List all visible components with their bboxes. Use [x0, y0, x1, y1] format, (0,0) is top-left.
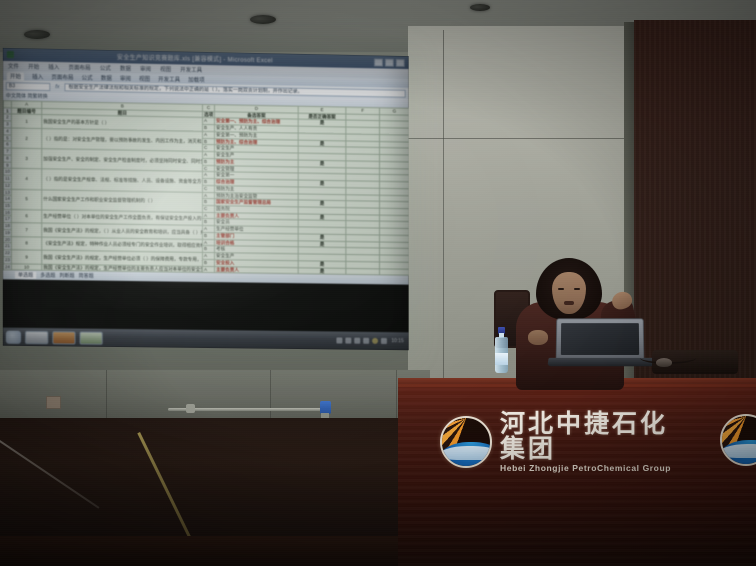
sunrise-over-water-logo-icon: [440, 416, 492, 468]
wall-seam: [396, 370, 397, 418]
row-number[interactable]: 16: [3, 209, 11, 216]
sheet-tab-true-false[interactable]: 判断题: [59, 272, 74, 279]
question-number[interactable]: 10: [11, 263, 41, 270]
maximize-icon[interactable]: [385, 58, 394, 66]
water-highlight: [720, 444, 756, 458]
question-number[interactable]: 6: [11, 209, 41, 223]
menu-item[interactable]: 审阅: [140, 65, 151, 73]
wall-outlet: [46, 396, 61, 409]
volume-icon[interactable]: [346, 338, 352, 344]
row-number[interactable]: 14: [3, 196, 11, 203]
menu-item[interactable]: 开始: [28, 62, 39, 70]
ceiling-light-icon: [24, 30, 50, 39]
row-number[interactable]: 24: [3, 263, 11, 270]
option-letter[interactable]: A: [203, 266, 215, 273]
row-number[interactable]: 20: [3, 236, 11, 243]
menu-item[interactable]: 页面布局: [69, 63, 91, 71]
start-button[interactable]: [6, 330, 21, 343]
table-body[interactable]: 21我国安全生产的基本方针是（ ）A安全第一、预防为主、综合治理是3B安全生产、…: [3, 114, 408, 275]
question-text[interactable]: （ ）指的是安全生产规章、法规、标准等措施、人员、设备设施、资金等全方位管理工作…: [42, 169, 203, 192]
row-number[interactable]: 22: [3, 250, 11, 257]
tab-addins[interactable]: 加载项: [188, 75, 205, 83]
sunrise-over-water-logo-icon-secondary: [720, 414, 756, 466]
flag-icon[interactable]: [373, 338, 379, 344]
laptop-screen: [556, 318, 644, 360]
row-number[interactable]: 15: [3, 202, 11, 209]
projection-screen: 安全生产知识竞赛题库.xls [兼容模式] - Microsoft Excel …: [3, 48, 409, 350]
mouth: [564, 301, 574, 305]
network-icon[interactable]: [337, 337, 343, 343]
is-correct-answer[interactable]: 是: [298, 267, 346, 274]
question-text[interactable]: 什么国家安全生产工作和职业安全监督管理机制的（ ）: [42, 189, 203, 212]
wall-seam: [408, 138, 636, 139]
menu-item[interactable]: 公式: [100, 64, 111, 72]
sheet-tab-multi-choice[interactable]: 多选题: [40, 272, 55, 279]
question-number[interactable]: 1: [11, 114, 41, 128]
excel-app-icon: [7, 51, 14, 58]
ceiling-light-icon: [470, 4, 490, 11]
eye: [574, 288, 580, 290]
name-box[interactable]: B3: [6, 82, 50, 91]
presenter-hand: [528, 330, 548, 345]
question-text[interactable]: 加强安全生产、安全的制定、安全生产检查制度时，必须坚持同时安全、同时生产的管理，…: [42, 149, 203, 172]
row-number[interactable]: 13: [3, 189, 11, 196]
question-number[interactable]: 7: [11, 223, 41, 237]
empty-cell[interactable]: [380, 268, 409, 275]
wall-dark-wood-panel: [634, 20, 756, 392]
floor-court-line: [0, 440, 99, 509]
eye: [558, 288, 564, 290]
taskbar-item-media[interactable]: [52, 331, 75, 344]
row-number[interactable]: 21: [3, 243, 11, 250]
laptop-keyboard[interactable]: [547, 358, 654, 366]
company-name-cn: 河北中捷石化集团: [500, 411, 690, 461]
insert-function-icon[interactable]: fx: [53, 84, 61, 90]
shield-icon[interactable]: [364, 338, 370, 344]
floor-shadow: [0, 536, 430, 566]
sheet-tab-short-answer[interactable]: 简答题: [79, 273, 94, 280]
tab-page-layout[interactable]: 页面布局: [51, 72, 73, 80]
menu-item[interactable]: 插入: [48, 63, 59, 71]
ceiling-light-icon: [250, 15, 276, 24]
battery-icon[interactable]: [381, 338, 387, 344]
company-logo-block: 河北中捷石化集团 Hebei Zhongjie PetroChemical Gr…: [440, 406, 690, 478]
photo-scene: 安全生产知识竞赛题库.xls [兼容模式] - Microsoft Excel …: [0, 0, 756, 566]
tab-view[interactable]: 视图: [139, 74, 150, 82]
option-text[interactable]: 主要负责人: [214, 266, 298, 274]
sheet-tab-single-choice[interactable]: 单选题: [15, 272, 36, 279]
empty-cell[interactable]: [346, 268, 380, 275]
tab-data[interactable]: 数据: [101, 73, 112, 81]
window-controls[interactable]: [374, 58, 405, 67]
taskbar-item-excel[interactable]: [80, 331, 103, 344]
menu-item[interactable]: 数据: [120, 64, 131, 72]
taskbar-clock[interactable]: 10:15: [391, 339, 405, 344]
water-highlight: [440, 446, 492, 460]
header-option: 选项: [203, 111, 215, 118]
row-number[interactable]: 18: [3, 223, 11, 230]
row-number[interactable]: 11: [3, 175, 11, 182]
rail-bracket: [320, 401, 331, 414]
ime-icon[interactable]: [355, 338, 361, 344]
question-number[interactable]: 8: [11, 236, 41, 250]
question-text[interactable]: 我国《安全生产法》的规定，生产经营单位的主要负责人应当对本单位的安全生产工作全面…: [42, 264, 203, 273]
tab-review[interactable]: 审阅: [120, 74, 131, 82]
question-number[interactable]: 5: [11, 189, 41, 210]
row-number[interactable]: 17: [3, 216, 11, 223]
wall-seam: [106, 370, 107, 418]
water-bottle: [495, 327, 508, 373]
bottle-label: [495, 353, 508, 365]
row-number[interactable]: 10: [3, 168, 11, 175]
company-name-en: Hebei Zhongjie PetroChemical Group: [500, 464, 690, 473]
tab-insert[interactable]: 插入: [32, 72, 43, 80]
close-icon[interactable]: [396, 58, 405, 66]
menu-item[interactable]: 开发工具: [180, 65, 202, 73]
question-text[interactable]: （ ）指的是：对安全生产管理，要以预防事故的发生、内因工作为主，消灭和减少引发事…: [42, 128, 203, 151]
taskbar-item-explorer[interactable]: [25, 330, 48, 343]
rail-end-cap: [186, 404, 195, 413]
question-number[interactable]: 2: [11, 128, 41, 149]
tab-formulas[interactable]: 公式: [82, 73, 93, 81]
system-tray[interactable]: [337, 337, 387, 344]
row-number[interactable]: 23: [3, 257, 11, 264]
row-number[interactable]: 19: [3, 229, 11, 236]
question-number[interactable]: 3: [11, 148, 41, 169]
tab-developer[interactable]: 开发工具: [158, 75, 180, 83]
wall-seam: [443, 30, 444, 390]
row-number[interactable]: 12: [3, 182, 11, 189]
question-number[interactable]: 9: [11, 250, 41, 264]
question-number[interactable]: 4: [11, 169, 41, 190]
spreadsheet-grid[interactable]: A B C D E F G 1 题目编号 题目 选项 备选答案 是否: [3, 100, 409, 276]
minimize-icon[interactable]: [374, 58, 383, 66]
computer-mouse[interactable]: [656, 358, 672, 367]
menu-item[interactable]: 文件: [8, 62, 19, 70]
menu-item[interactable]: 视图: [160, 65, 171, 73]
sheet-table[interactable]: A B C D E F G 1 题目编号 题目 选项 备选答案 是否: [3, 100, 409, 276]
tab-home[interactable]: 开始: [7, 72, 24, 80]
